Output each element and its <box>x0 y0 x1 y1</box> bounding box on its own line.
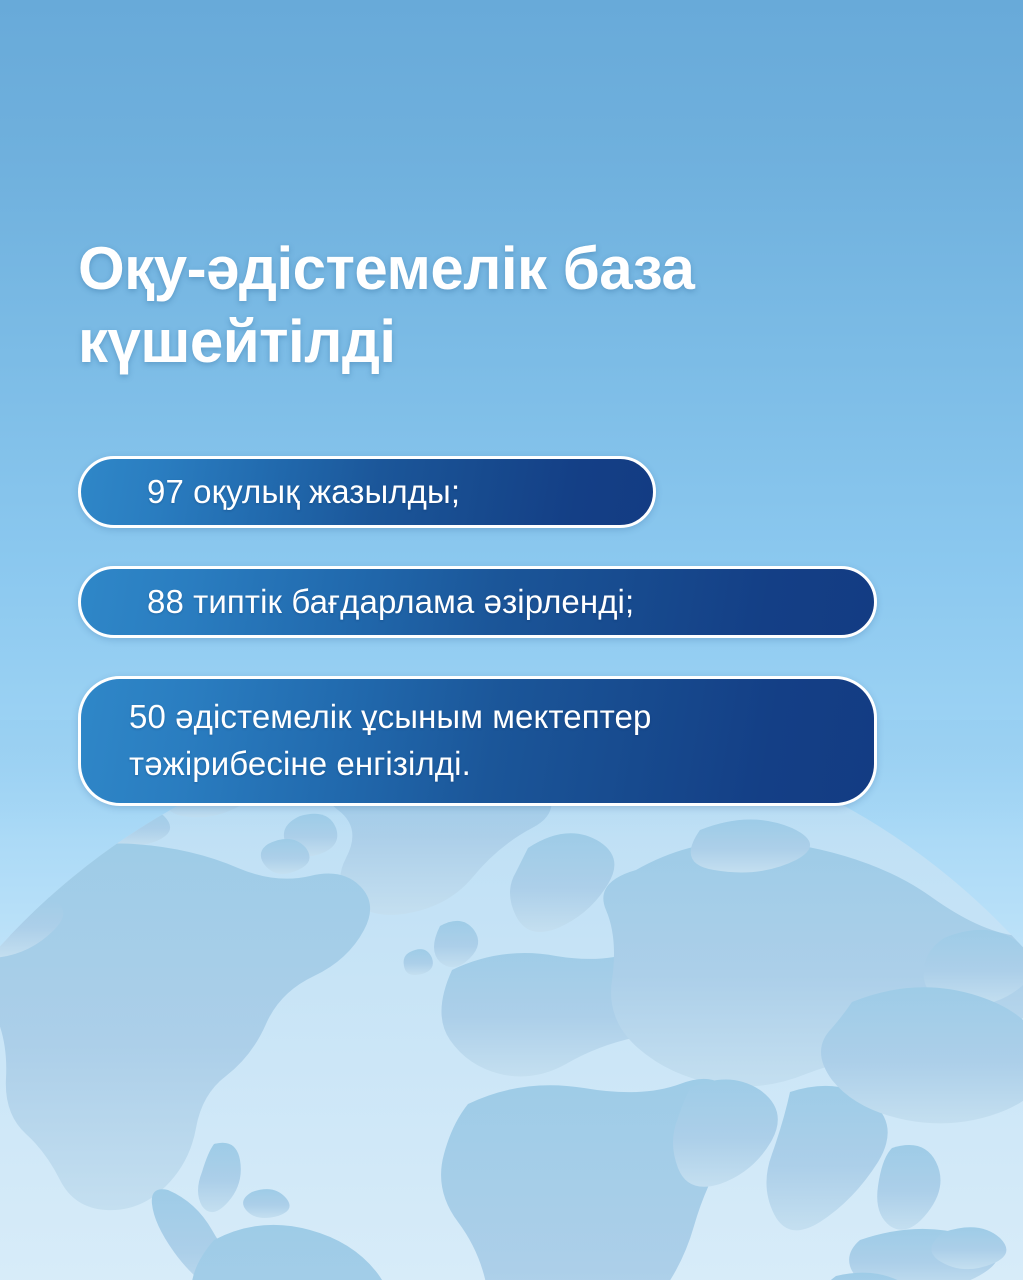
continents <box>0 741 1023 1280</box>
list-item: 50 әдістемелік ұсыным мектептер тәжірибе… <box>78 676 877 806</box>
statistics-list: 97 оқулық жазылды; 88 типтік бағдарлама … <box>78 456 938 806</box>
stat-text-3: 50 әдістемелік ұсыным мектептер тәжірибе… <box>129 694 844 788</box>
page-title: Оқу-әдістемелік база күшейтілді <box>78 232 878 378</box>
infographic-slide: Оқу-әдістемелік база күшейтілді 97 оқулы… <box>0 0 1023 1280</box>
stat-text-1: 97 оқулық жазылды; <box>147 469 460 516</box>
stat-text-2: 88 типтік бағдарлама әзірленді; <box>147 579 634 626</box>
list-item: 97 оқулық жазылды; <box>78 456 656 528</box>
list-item: 88 типтік бағдарлама әзірленді; <box>78 566 877 638</box>
